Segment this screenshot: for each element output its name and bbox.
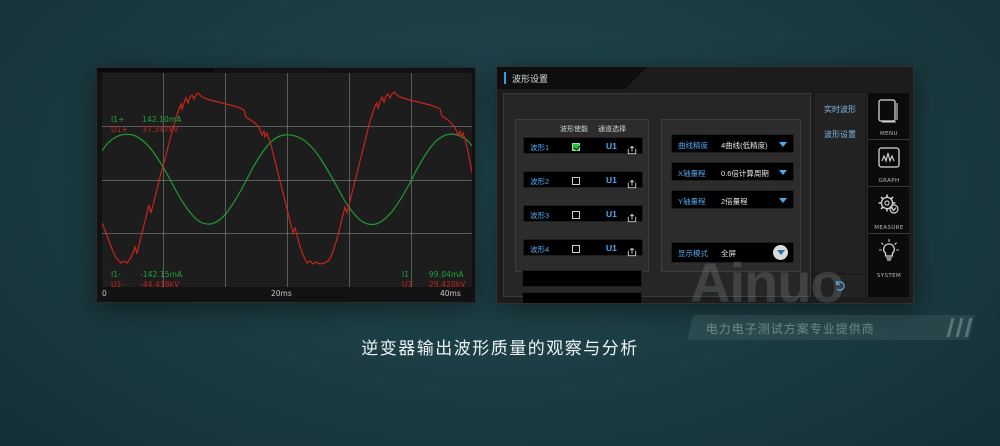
export-icon[interactable] <box>627 244 637 254</box>
table-row-empty[interactable] <box>522 270 642 287</box>
rail-label: MEASURE <box>868 225 910 231</box>
waveform-row-label: 波形2 <box>530 176 549 187</box>
axis-tick-label: 40ms <box>440 289 461 298</box>
label-current-peak-neg-name: I1- <box>111 270 121 279</box>
setting-label: X轴量程 <box>678 168 706 179</box>
waveform-channel-value[interactable]: U1 <box>606 175 617 185</box>
axis-tick-label: 20ms <box>271 289 292 298</box>
rail-label: MENU <box>868 131 910 137</box>
scope-time-axis: 0 20ms 40ms <box>102 289 472 301</box>
waveform-enable-card: 波形使能 通道选择 波形1 U1 波形2 U1 <box>515 119 649 272</box>
panel-titlebar: 波形设置 <box>497 67 913 89</box>
rail-label: SYSTEM <box>868 273 910 279</box>
setting-value: 2倍量程 <box>721 196 748 207</box>
display-settings-card: 曲线精度 4曲线(低精度) X轴量程 0.6倍计算周期 Y轴量程 2倍量程 显示… <box>661 119 801 272</box>
export-icon[interactable] <box>627 142 637 152</box>
export-icon[interactable] <box>627 210 637 220</box>
waveform-channel-value[interactable]: U1 <box>606 141 617 151</box>
label-voltage-peak-neg-name: U1- <box>111 280 124 287</box>
chevron-down-icon[interactable] <box>779 170 787 175</box>
column-header-channel: 通道选择 <box>598 124 626 134</box>
rail-button-system[interactable]: SYSTEM <box>868 234 910 281</box>
nav-item-waveform-settings[interactable]: 波形设置 <box>815 129 865 140</box>
waveform-row-label: 波形1 <box>530 142 549 153</box>
chevron-down-icon[interactable] <box>773 245 788 260</box>
waveform-channel-value[interactable]: U1 <box>606 209 617 219</box>
setting-label: Y轴量程 <box>678 196 706 207</box>
table-row-empty[interactable] <box>522 292 642 304</box>
column-header-enable: 波形使能 <box>560 124 588 134</box>
setting-row-y-range[interactable]: Y轴量程 2倍量程 <box>671 190 794 209</box>
waveform-row-label: 波形4 <box>530 244 549 255</box>
gear-icon <box>876 190 902 225</box>
label-voltage-peak-pos-name: U1+ <box>111 125 128 134</box>
pages-icon <box>876 96 902 131</box>
waveform-enable-checkbox[interactable] <box>572 245 580 253</box>
axis-tick-label: 0 <box>102 289 107 298</box>
export-icon[interactable] <box>627 176 637 186</box>
label-current-rms-value: 99.04mA <box>429 270 464 279</box>
page-root: I1+ 142.10mA U1+ 37.347kV I1- -142.15mA … <box>0 0 1000 446</box>
label-current-peak-pos-value: 142.10mA <box>142 115 181 124</box>
back-arrow-icon <box>834 280 847 292</box>
label-voltage-peak-pos-value: 37.347kV <box>142 125 179 134</box>
chevron-down-icon[interactable] <box>779 142 787 147</box>
table-row[interactable]: 波形2 U1 <box>523 171 643 188</box>
page-caption: 逆变器输出波形质量的观察与分析 <box>0 334 1000 359</box>
scope-titlebar-strip <box>97 68 214 72</box>
label-current-peak-neg-value: -142.15mA <box>140 270 182 279</box>
setting-row-x-range[interactable]: X轴量程 0.6倍计算周期 <box>671 162 794 181</box>
rail-button-graph[interactable]: GRAPH <box>868 140 910 187</box>
label-voltage-rms-value: 29.420kV <box>429 280 466 287</box>
waveform-channel-value[interactable]: U1 <box>606 243 617 253</box>
table-row[interactable]: 波形1 U1 <box>523 137 643 154</box>
label-voltage-rms-name: U1 <box>402 280 412 287</box>
label-voltage-peak-neg-value: -44.418kV <box>140 280 179 287</box>
setting-row-curve-precision[interactable]: 曲线精度 4曲线(低精度) <box>671 134 794 153</box>
chevron-down-icon[interactable] <box>779 198 787 203</box>
waveform-icon <box>876 143 902 178</box>
panel-nav-column: 实时波形 波形设置 <box>815 93 865 273</box>
setting-label: 曲线精度 <box>678 140 708 151</box>
scope-traces <box>102 73 472 287</box>
back-button[interactable] <box>815 275 865 297</box>
settings-screen-area: 波形使能 通道选择 波形1 U1 波形2 U1 <box>503 93 811 297</box>
label-current-rms-name: I1 <box>402 270 409 279</box>
setting-row-display-mode[interactable]: 显示模式 全屏 <box>671 242 794 263</box>
waveform-enable-checkbox[interactable] <box>572 177 580 185</box>
rail-button-measure[interactable]: MEASURE <box>868 187 910 234</box>
label-current-peak-pos-name: I1+ <box>111 115 125 124</box>
scope-plot-area[interactable]: I1+ 142.10mA U1+ 37.347kV I1- -142.15mA … <box>102 73 472 287</box>
table-row[interactable]: 波形3 U1 <box>523 205 643 222</box>
rail-button-menu[interactable]: MENU <box>868 93 910 140</box>
waveform-scope-panel: I1+ 142.10mA U1+ 37.347kV I1- -142.15mA … <box>96 67 476 303</box>
setting-value: 0.6倍计算周期 <box>721 168 769 179</box>
hardware-icon-rail: MENU GRAPH <box>867 93 909 297</box>
waveform-enable-checkbox[interactable] <box>572 143 580 151</box>
setting-value: 4曲线(低精度) <box>721 140 768 151</box>
panel-title: 波形设置 <box>512 72 548 85</box>
nav-item-realtime-waveform[interactable]: 实时波形 <box>815 104 865 115</box>
instrument-settings-panel: 波形设置 波形使能 通道选择 波形1 U1 波形2 U1 <box>496 66 914 304</box>
bulb-icon <box>876 237 902 272</box>
setting-value: 全屏 <box>721 248 736 259</box>
rail-label: GRAPH <box>868 178 910 184</box>
waveform-row-label: 波形3 <box>530 210 549 221</box>
setting-label: 显示模式 <box>678 248 708 259</box>
table-row[interactable]: 波形4 U1 <box>523 239 643 256</box>
title-accent-bar <box>504 72 506 84</box>
waveform-enable-checkbox[interactable] <box>572 211 580 219</box>
